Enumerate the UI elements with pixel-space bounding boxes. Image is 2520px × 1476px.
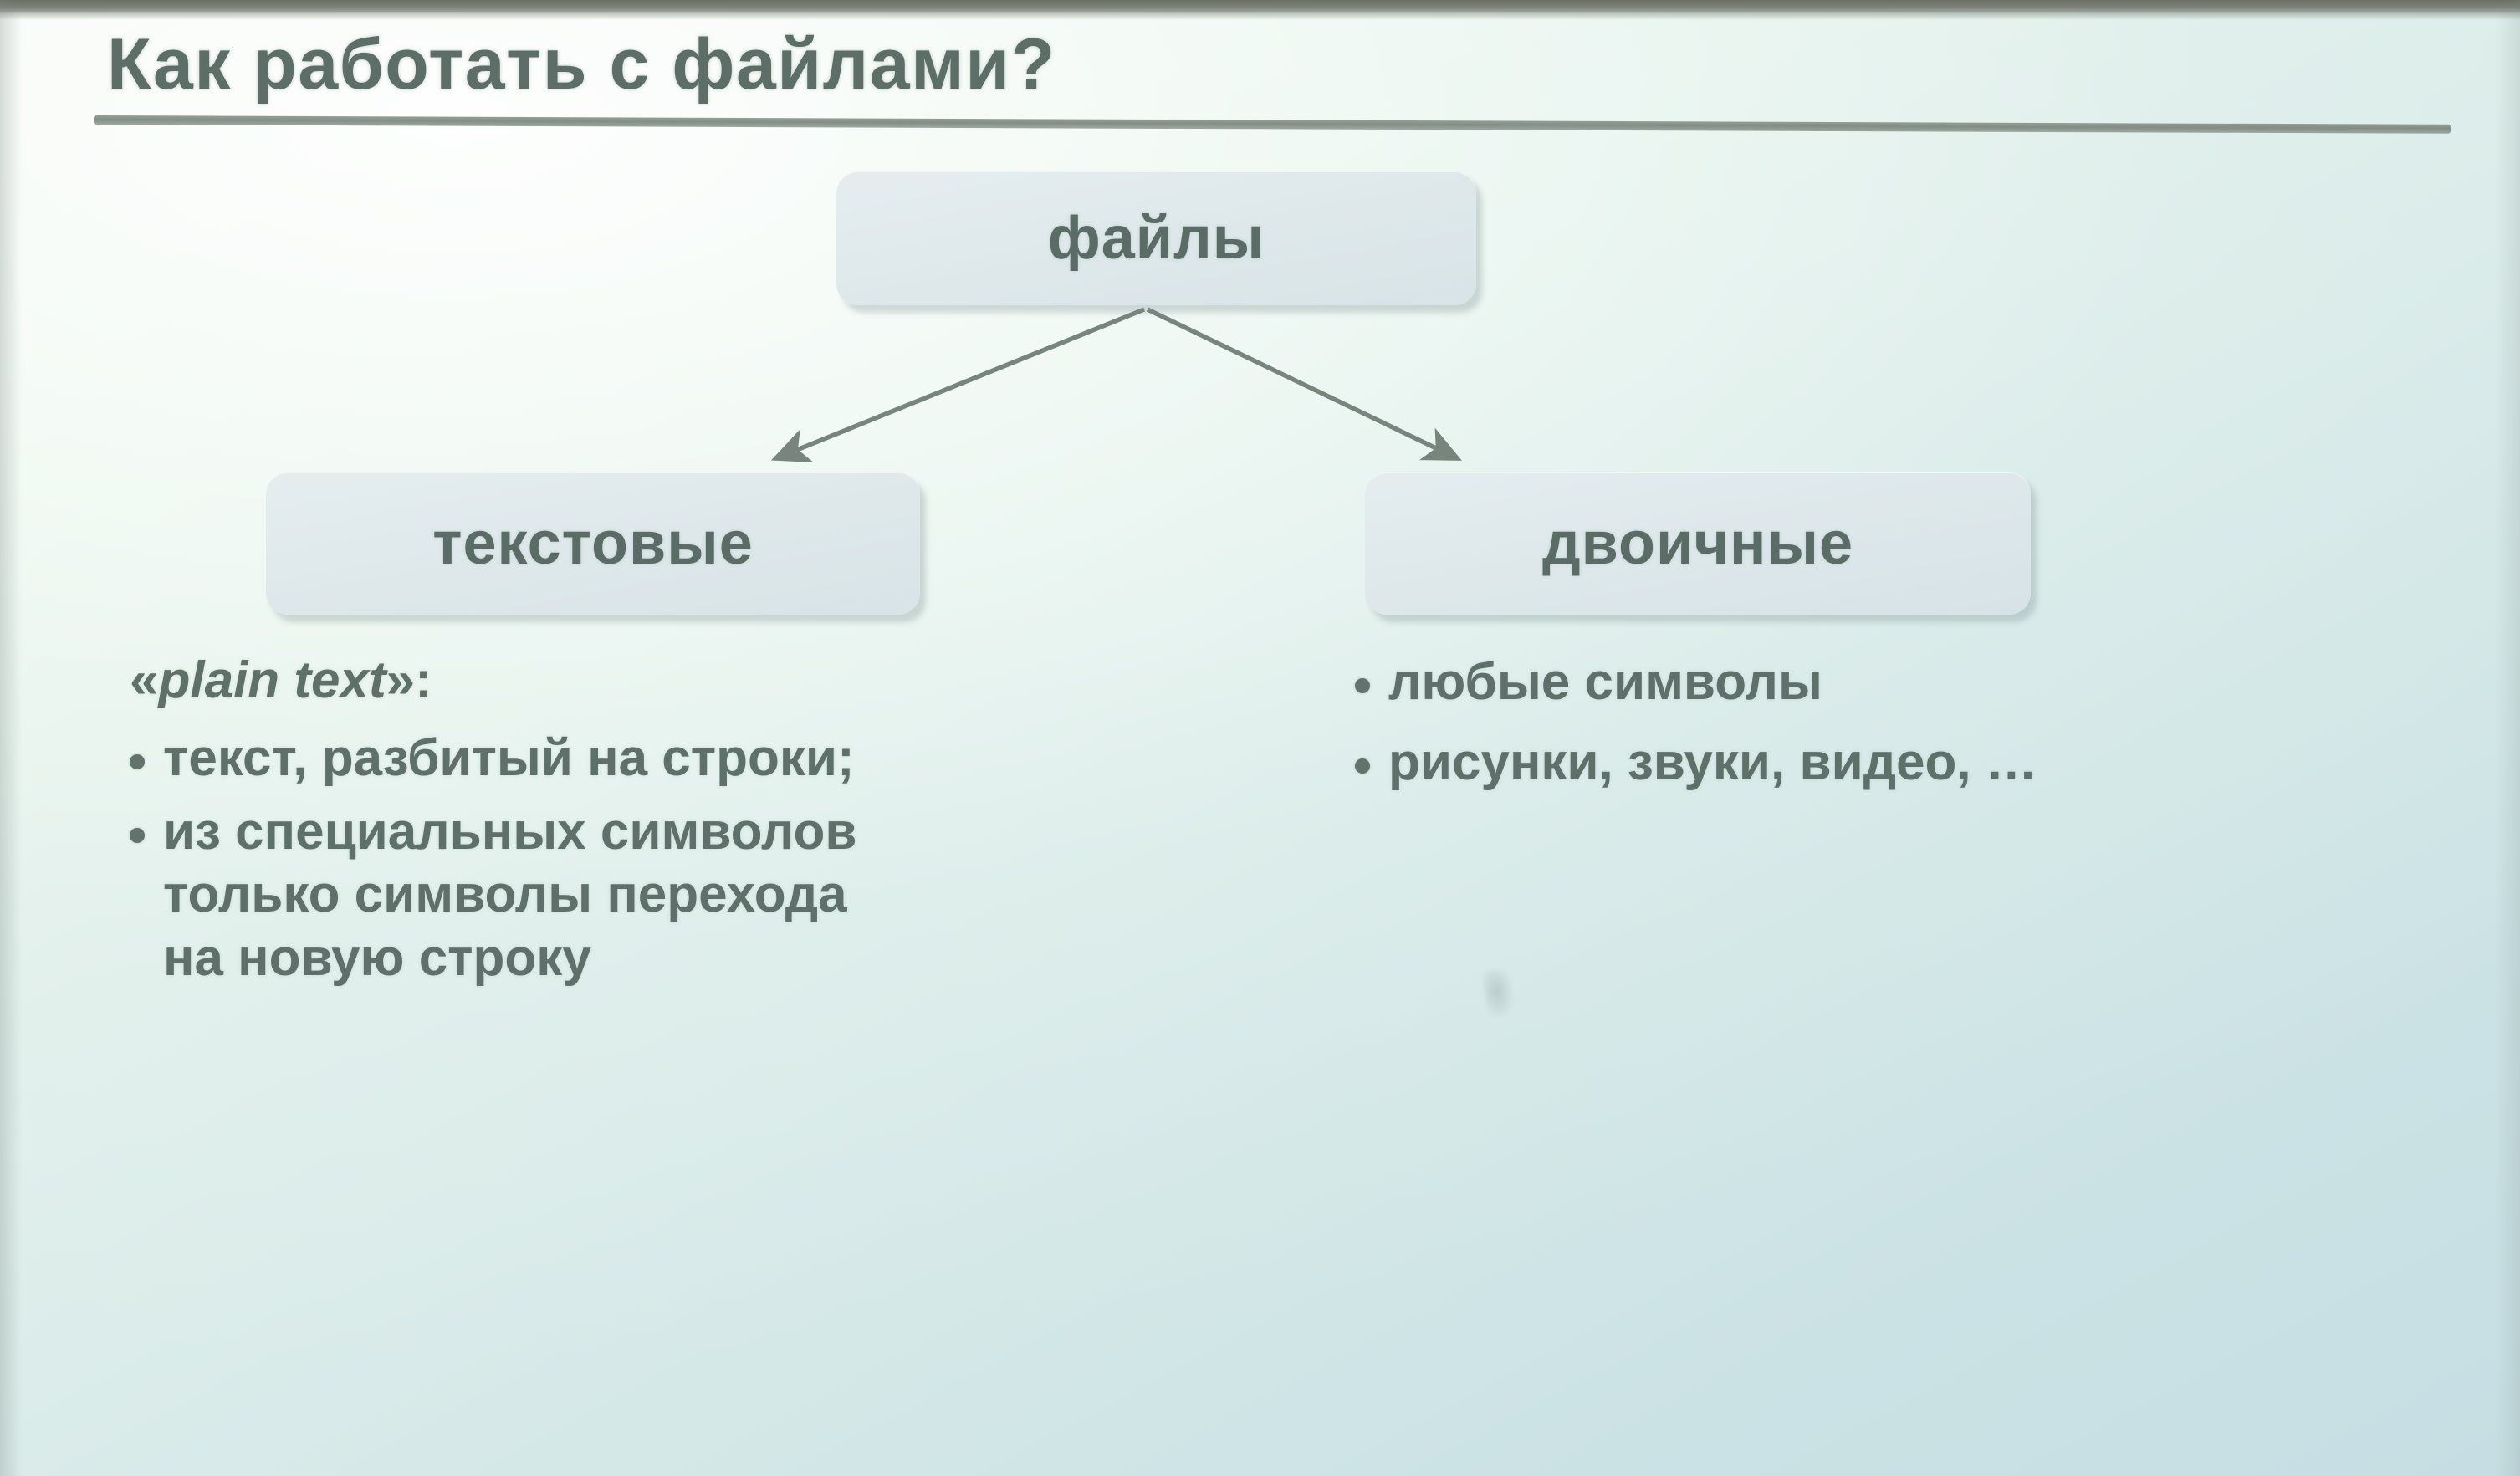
- plain-text-lead-line: «plain text»:: [130, 651, 1267, 710]
- page-title: Как работать с файлами?: [107, 23, 1056, 106]
- list-item: рисунки, звуки, видео, …: [1355, 731, 2509, 794]
- lead-close-quote: »:: [386, 651, 432, 709]
- projector-top-band: [0, 0, 2520, 12]
- list-item-label: рисунки, звуки, видео, …: [1388, 731, 2037, 794]
- text-files-details-column: «plain text»: текст, разбитый на строки;…: [130, 651, 1267, 1000]
- list-item-label: любые символы: [1388, 651, 1822, 714]
- diagram-node-binary-files-label: двоичные: [1542, 509, 1853, 578]
- list-item: текст, разбитый на строки;: [130, 727, 1267, 790]
- diagram-node-files: файлы: [836, 171, 1476, 305]
- diagram-node-text-files: текстовые: [266, 472, 920, 615]
- slide-canvas: Как работать с файлами? файлы текстовые …: [0, 0, 2520, 1476]
- binary-files-details-column: любые символы рисунки, звуки, видео, …: [1355, 651, 2509, 810]
- projector-top-band-fade: [0, 12, 2520, 20]
- list-item-line: только символы перехода: [163, 866, 847, 923]
- diagram-node-text-files-label: текстовые: [432, 509, 754, 578]
- left-edge-vignette: [0, 0, 22, 1476]
- lead-emphasis-plain-text: plain text: [158, 651, 386, 709]
- title-underline-rule: [94, 115, 2451, 134]
- diagram-node-binary-files: двоичные: [1365, 472, 2031, 615]
- lead-open-quote: «: [130, 651, 158, 709]
- list-item: из специальных символов только символы п…: [130, 800, 1267, 990]
- projection-smudge-artifact: [1481, 968, 1516, 1019]
- diagram-node-files-label: файлы: [1048, 204, 1265, 273]
- arrow-files-to-binary: [1148, 309, 1457, 458]
- arrow-files-to-text: [776, 309, 1144, 458]
- list-item-line: на новую строку: [163, 929, 591, 987]
- bullet-dot-icon: [1355, 758, 1370, 774]
- list-item: любые символы: [1355, 651, 2509, 714]
- list-item-line: из специальных символов: [163, 803, 857, 861]
- bullet-dot-icon: [130, 754, 145, 769]
- bullet-dot-icon: [130, 828, 145, 843]
- list-item-label: текст, разбитый на строки;: [163, 727, 855, 790]
- bullet-dot-icon: [1355, 678, 1370, 693]
- list-item-label: из специальных символов только символы п…: [163, 800, 857, 990]
